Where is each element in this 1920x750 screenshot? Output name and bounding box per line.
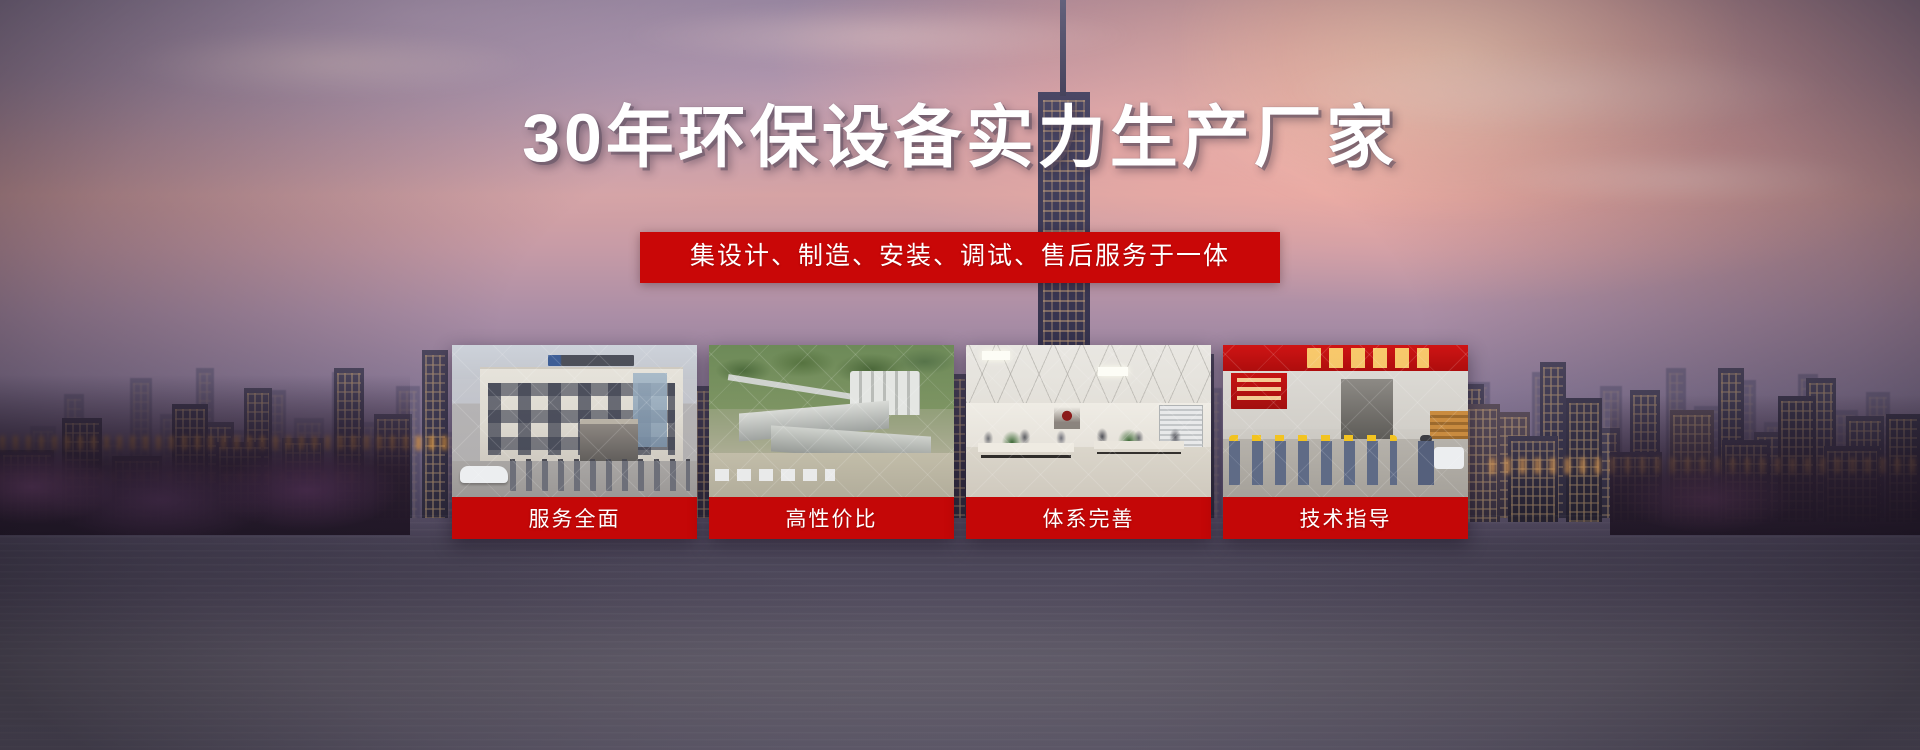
photo-ceiling-light xyxy=(1098,367,1128,376)
feature-card[interactable]: 高性价比 xyxy=(709,345,954,539)
photo-desk xyxy=(1094,441,1184,449)
banner-content: 30年环保设备实力生产厂家 集设计、制造、安装、调试、售后服务于一体 xyxy=(0,0,1920,750)
banner-subtitle-text: 集设计、制造、安装、调试、售后服务于一体 xyxy=(684,242,1236,271)
feature-card[interactable]: 技术指导 xyxy=(1223,345,1468,539)
photo-company-logo xyxy=(548,355,634,366)
company-office-building-photo xyxy=(452,345,697,497)
banner-headline: 30年环保设备实力生产厂家 xyxy=(0,104,1920,172)
photo-staff-row xyxy=(510,461,690,491)
photo-lead-person xyxy=(1418,441,1434,485)
feature-card-label-text: 体系完善 xyxy=(1043,503,1135,533)
workers-product-launch-photo xyxy=(1223,345,1468,497)
photo-floor xyxy=(966,447,1211,497)
photo-glass-facade xyxy=(633,373,667,447)
photo-factory-door xyxy=(1341,379,1393,439)
feature-card-label: 服务全面 xyxy=(452,497,697,539)
photo-vehicle xyxy=(1434,447,1464,469)
photo-side-banner xyxy=(1231,373,1287,409)
photo-car xyxy=(460,466,508,483)
feature-card-label: 技术指导 xyxy=(1223,497,1468,539)
office-interior-staff-photo xyxy=(966,345,1211,497)
photo-ceiling-light xyxy=(982,351,1010,360)
feature-card-label: 体系完善 xyxy=(966,497,1211,539)
feature-card-label: 高性价比 xyxy=(709,497,954,539)
photo-trucks xyxy=(715,469,835,481)
feature-card[interactable]: 体系完善 xyxy=(966,345,1211,539)
feature-card[interactable]: 服务全面 xyxy=(452,345,697,539)
aerial-factory-plant-photo xyxy=(709,345,954,497)
feature-card-label-text: 高性价比 xyxy=(786,503,878,533)
hero-banner: 30年环保设备实力生产厂家 集设计、制造、安装、调试、售后服务于一体 xyxy=(0,0,1920,750)
feature-card-label-text: 服务全面 xyxy=(529,503,621,533)
banner-subtitle-bar: 集设计、制造、安装、调试、售后服务于一体 xyxy=(640,232,1280,283)
feature-card-label-text: 技术指导 xyxy=(1300,503,1392,533)
photo-desk xyxy=(978,443,1074,452)
feature-card-list: 服务全面 高性价比 xyxy=(452,345,1468,539)
photo-worker-row xyxy=(1229,441,1397,485)
photo-banner-text xyxy=(1307,348,1429,368)
photo-stacked-material xyxy=(1430,411,1468,439)
